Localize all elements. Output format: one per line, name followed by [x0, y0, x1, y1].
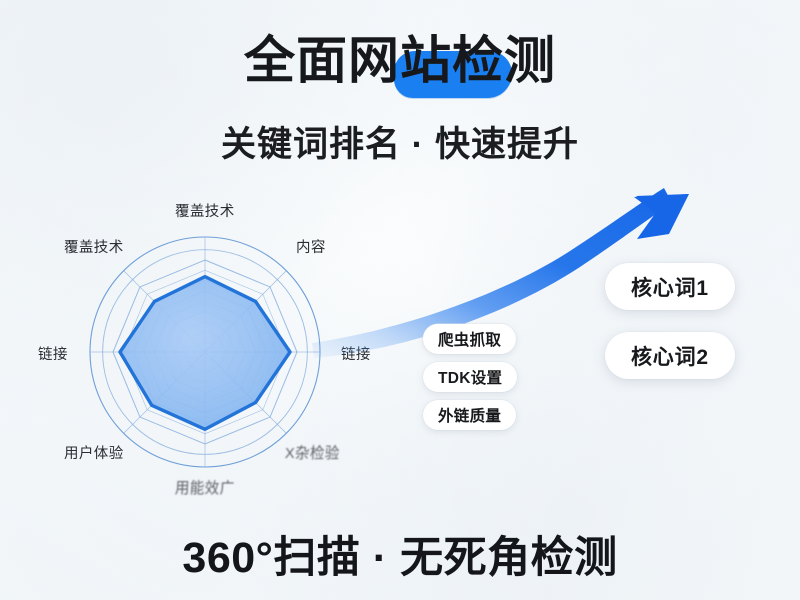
title-block: 全面网站检测	[0, 34, 800, 88]
radar-label-bottom-left: 用户体验	[64, 442, 124, 463]
feature-pill-crawl[interactable]: 爬虫抓取	[423, 324, 516, 354]
feature-pill-tdk[interactable]: TDK设置	[423, 362, 517, 392]
radar-label-bottom: 用能效广	[174, 477, 235, 499]
page-subtitle: 关键词排名 · 快速提升	[0, 116, 800, 167]
title-part-1: 全面	[244, 32, 348, 89]
radar-label-right: 链接	[341, 343, 371, 364]
title-part-highlight: 网站	[348, 32, 452, 89]
arrow-head	[636, 194, 689, 239]
keyword-pill-2-label: 核心词2	[631, 341, 709, 371]
radar-chart: 覆盖技术 内容 链接 X杂检验 用能效广 用户体验 链接 覆盖技术	[20, 185, 420, 515]
keyword-pill-1[interactable]: 核心词1	[605, 263, 735, 310]
radar-label-left: 链接	[38, 343, 68, 364]
feature-pill-crawl-label: 爬虫抓取	[438, 328, 501, 350]
poster-canvas: 全面网站检测 关键词排名 · 快速提升 覆盖技术 内容	[0, 0, 800, 600]
radar-label-bottom-right: X杂检验	[284, 442, 340, 464]
feature-pill-backlink[interactable]: 外链质量	[423, 400, 516, 430]
feature-pill-tdk-label: TDK设置	[438, 366, 502, 388]
page-footer-title: 360°扫描 · 无死角检测	[0, 523, 800, 585]
radar-label-top-right: 内容	[296, 236, 326, 257]
radar-label-top: 覆盖技术	[175, 200, 235, 221]
arrow-head-fill	[634, 194, 689, 240]
feature-pill-backlink-label: 外链质量	[438, 404, 501, 426]
keyword-pill-1-label: 核心词1	[631, 272, 709, 302]
keyword-pill-2[interactable]: 核心词2	[605, 332, 735, 379]
radar-label-top-left: 覆盖技术	[64, 236, 124, 257]
page-title: 全面网站检测	[244, 34, 556, 88]
title-part-2: 检测	[452, 32, 556, 89]
